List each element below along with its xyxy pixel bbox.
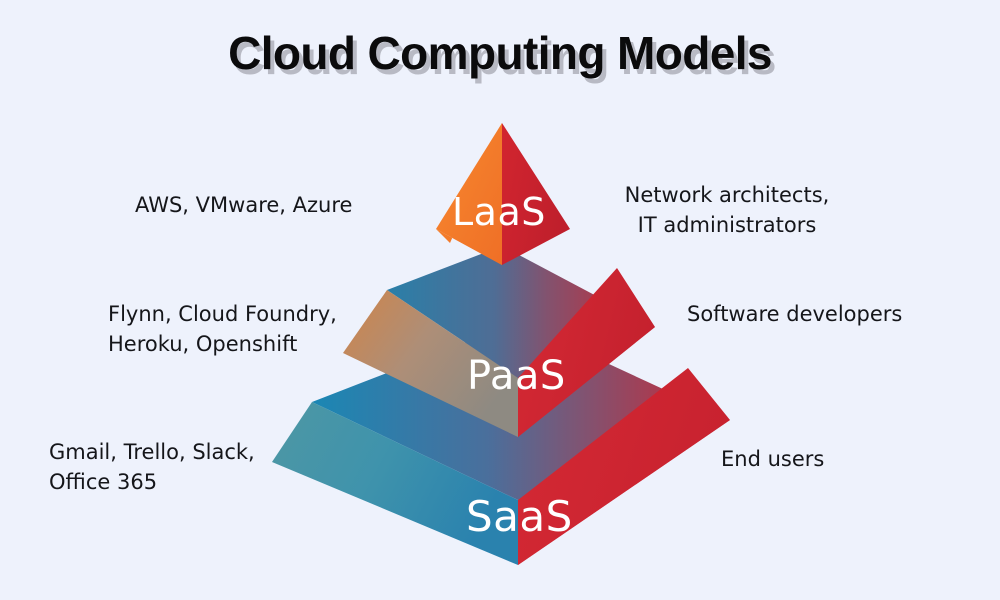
tier-label-iaas: LaaS (452, 190, 546, 234)
tier-label-saas: SaaS (466, 492, 573, 541)
annotation-saas-audience: End users (721, 444, 824, 474)
annotation-iaas-examples: AWS, VMware, Azure (135, 190, 352, 220)
diagram-canvas: Cloud Computing Models (0, 0, 1000, 600)
tier-label-paas: PaaS (467, 353, 566, 399)
annotation-paas-audience: Software developers (687, 299, 902, 329)
annotation-paas-examples: Flynn, Cloud Foundry, Heroku, Openshift (108, 299, 337, 359)
annotation-saas-examples: Gmail, Trello, Slack, Office 365 (49, 437, 255, 497)
annotation-iaas-audience: Network architects, IT administrators (620, 180, 834, 240)
